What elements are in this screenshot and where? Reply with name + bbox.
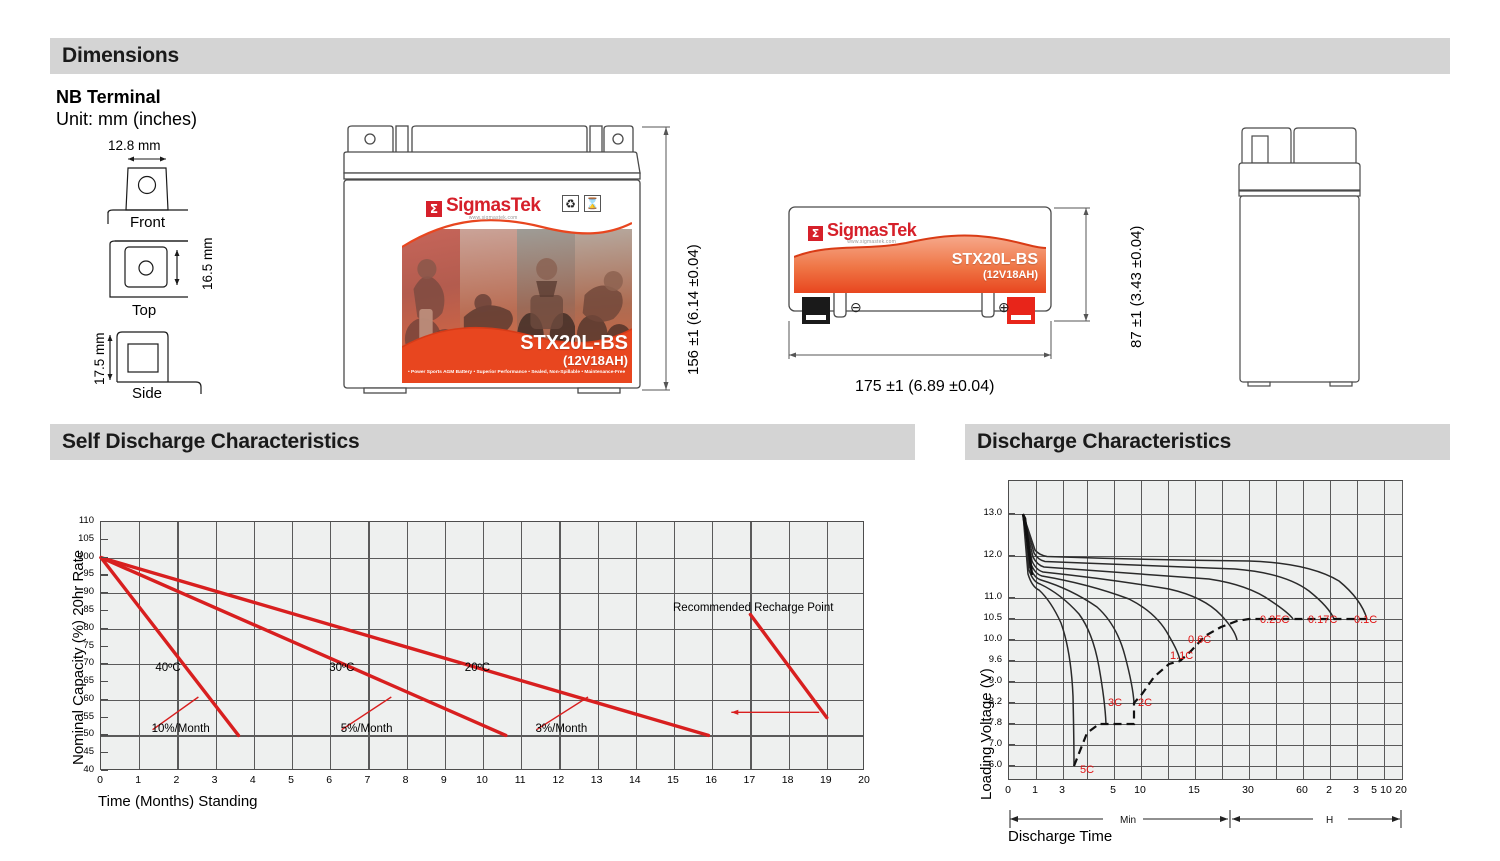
feature-bullets: • Power Sports AGM Battery • Superior Pe… (408, 370, 625, 375)
ytick-mark (101, 574, 108, 575)
cutoff-envelope (1074, 619, 1367, 766)
self-discharge-curves (101, 522, 865, 771)
self-discharge-line-30ºC (101, 558, 506, 736)
side-brand-lockup: Σ SigmasTek www.sigmastek.com (808, 221, 916, 245)
ytick-mark (101, 770, 108, 771)
self-discharge-xtick-1: 1 (126, 774, 150, 786)
discharge-xtick-min-30: 30 (1236, 784, 1260, 796)
discharge-ytick-12: 12.0 (964, 549, 1002, 560)
hourglass-icon: ⌛ (584, 195, 601, 212)
ytick-mark (1009, 639, 1015, 640)
self-discharge-section-header: Self Discharge Characteristics (50, 424, 915, 460)
side-length-dimension-line (786, 317, 1056, 363)
dimensions-section-header: Dimensions (50, 38, 1450, 74)
discharge-curve-3C (1023, 514, 1106, 724)
discharge-xtick-hour-20: 20 (1389, 784, 1413, 796)
self-discharge-xtick-2: 2 (164, 774, 188, 786)
self-discharge-plot (100, 521, 864, 770)
discharge-ytick-10: 10.0 (964, 633, 1002, 644)
battery-side-view: Σ SigmasTek www.sigmastek.com STX20L-BS … (786, 205, 1096, 335)
self-discharge-xtick-3: 3 (203, 774, 227, 786)
ytick-mark (101, 663, 108, 664)
discharge-ytick-7: 7.0 (964, 738, 1002, 749)
discharge-xtick-min-0: 0 (996, 784, 1020, 796)
discharge-ytick-10.5: 10.5 (964, 612, 1002, 623)
self-discharge-xtick-15: 15 (661, 774, 685, 786)
battery-end-view (1234, 126, 1366, 396)
self-discharge-xtick-14: 14 (623, 774, 647, 786)
ytick-mark (1009, 513, 1015, 514)
crate-label-0.1C: 0.1C (1354, 614, 1377, 626)
negative-polarity-icon: ⊖ (850, 299, 862, 316)
recharge-leader-arrow (731, 710, 738, 715)
self-discharge-ytick-50: 50 (60, 728, 94, 739)
self-discharge-ytick-45: 45 (60, 746, 94, 757)
self-discharge-annotation: Recommended Recharge Point (673, 602, 833, 614)
side-length-dim-label: 175 ±1 (6.89 ±0.04) (855, 378, 994, 396)
terminal-drawings: 12.8 mm Front 16.5 mm (60, 132, 310, 412)
self-discharge-ytick-70: 70 (60, 657, 94, 668)
ytick-mark (1009, 765, 1015, 766)
front-height-dim-label: 156 ±1 (6.14 ±0.04) (685, 244, 702, 375)
ytick-mark (101, 592, 108, 593)
model-capacity: (12V18AH) (462, 354, 628, 368)
sigma-logo-icon: Σ (808, 226, 823, 241)
discharge-curve-0.17C (1023, 514, 1334, 619)
ytick-mark (101, 699, 108, 700)
discharge-xtick-min-60: 60 (1290, 784, 1314, 796)
discharge-xtick-min-15: 15 (1182, 784, 1206, 796)
dimensions-title: Dimensions (62, 44, 179, 68)
self-discharge-xtick-13: 13 (585, 774, 609, 786)
self-discharge-ytick-80: 80 (60, 622, 94, 633)
crate-label-2C: 2C (1138, 697, 1152, 709)
unit-label: Unit: mm (inches) (56, 108, 197, 130)
self-discharge-ytick-85: 85 (60, 604, 94, 615)
ytick-mark (101, 610, 108, 611)
ytick-mark (101, 734, 108, 735)
self-discharge-annotation: 30ºC (329, 662, 354, 674)
side-height-dim-label: 87 ±1 (3.43 ±0.04) (1128, 226, 1145, 348)
discharge-ytick-11: 11.0 (964, 591, 1002, 602)
self-discharge-annotation: 3%/Month (536, 723, 588, 735)
battery-side-label: Σ SigmasTek www.sigmastek.com STX20L-BS … (794, 215, 1046, 293)
ytick-mark (1009, 618, 1015, 619)
self-discharge-annotation: 10%/Month (152, 723, 210, 735)
self-discharge-xtick-8: 8 (394, 774, 418, 786)
self-discharge-xtick-4: 4 (241, 774, 265, 786)
positive-polarity-icon: ⊕ (998, 299, 1010, 316)
self-discharge-ytick-60: 60 (60, 693, 94, 704)
side-view-label: Side (132, 385, 162, 402)
discharge-ytick-9: 9.0 (964, 675, 1002, 686)
discharge-xtick-min-5: 5 (1101, 784, 1125, 796)
self-discharge-xtick-10: 10 (470, 774, 494, 786)
self-discharge-title: Self Discharge Characteristics (62, 430, 359, 454)
self-discharge-xtick-11: 11 (508, 774, 532, 786)
min-span-label: Min (1120, 815, 1136, 826)
self-discharge-ytick-65: 65 (60, 675, 94, 686)
crate-label-1.1C: 1.1C (1170, 650, 1193, 662)
nb-terminal-heading-group: NB Terminal Unit: mm (inches) (56, 86, 197, 130)
self-discharge-xtick-16: 16 (699, 774, 723, 786)
self-discharge-ytick-75: 75 (60, 640, 94, 651)
side-height-dimension-line (1048, 205, 1094, 335)
self-discharge-annotation: 5%/Month (341, 723, 393, 735)
self-discharge-xtick-6: 6 (317, 774, 341, 786)
self-discharge-xtick-9: 9 (432, 774, 456, 786)
self-discharge-annotation: 40ºC (155, 662, 180, 674)
discharge-curve-0.1C (1023, 514, 1367, 619)
ytick-mark (101, 539, 108, 540)
discharge-ytick-13: 13.0 (964, 507, 1002, 518)
battery-end-outline (1234, 126, 1366, 396)
discharge-curve-2C (1023, 514, 1134, 703)
ytick-mark (1009, 660, 1015, 661)
discharge-ylabel: Loading Voltage (V) (978, 668, 995, 800)
discharge-curve-0.6C (1023, 514, 1237, 640)
model-capacity: (12V18AH) (904, 269, 1038, 281)
recharge-point-line (750, 615, 826, 718)
self-discharge-annotation: 20ºC (465, 662, 490, 674)
ytick-mark (101, 752, 108, 753)
discharge-plot (1008, 480, 1403, 780)
ytick-mark (101, 628, 108, 629)
discharge-ytick-8.2: 8.2 (964, 696, 1002, 707)
crate-label-3C: 3C (1108, 697, 1122, 709)
sigma-logo-icon: Σ (426, 201, 442, 217)
side-height-dim: 17.5 mm (92, 332, 107, 385)
model-name: STX20L-BS (904, 251, 1038, 268)
battery-front-view: Σ SigmasTek www.sigmastek.com ♻ ⌛ STX20L… (338, 125, 650, 397)
crate-label-0.6C: 0.6C (1188, 634, 1211, 646)
discharge-section-header: Discharge Characteristics (965, 424, 1450, 460)
self-discharge-ytick-90: 90 (60, 586, 94, 597)
ytick-mark (101, 557, 108, 558)
self-discharge-line-40ºC (101, 558, 239, 736)
discharge-xtick-min-10: 10 (1128, 784, 1152, 796)
self-discharge-xtick-0: 0 (88, 774, 112, 786)
ytick-mark (1009, 702, 1015, 703)
self-discharge-xtick-18: 18 (776, 774, 800, 786)
hour-span-label: H (1326, 815, 1333, 826)
self-discharge-line-20ºC (101, 558, 708, 736)
model-name: STX20L-BS (462, 333, 628, 354)
self-discharge-ytick-110: 110 (60, 515, 94, 526)
ytick-mark (1009, 555, 1015, 556)
ytick-mark (101, 681, 108, 682)
self-discharge-ytick-105: 105 (60, 533, 94, 544)
crate-label-0.25C: 0.25C (1260, 614, 1289, 626)
self-discharge-xtick-17: 17 (737, 774, 761, 786)
self-discharge-ytick-100: 100 (60, 551, 94, 562)
brand-name: SigmasTek (827, 221, 916, 239)
ytick-mark (1009, 681, 1015, 682)
ytick-mark (101, 717, 108, 718)
ytick-mark (1009, 723, 1015, 724)
discharge-ytick-6: 6.0 (964, 759, 1002, 770)
discharge-xtick-min-1: 1 (1023, 784, 1047, 796)
discharge-curves (1009, 481, 1404, 781)
discharge-xtick-min-3: 3 (1050, 784, 1074, 796)
brand-lockup: Σ SigmasTek www.sigmastek.com (426, 196, 540, 221)
self-discharge-xtick-7: 7 (355, 774, 379, 786)
discharge-ytick-9.6: 9.6 (964, 654, 1002, 665)
recycle-icon: ♻ (562, 195, 579, 212)
self-discharge-ytick-55: 55 (60, 711, 94, 722)
self-discharge-xtick-20: 20 (852, 774, 876, 786)
self-discharge-ytick-95: 95 (60, 568, 94, 579)
self-discharge-xtick-12: 12 (546, 774, 570, 786)
nb-terminal-label: NB Terminal (56, 86, 197, 108)
discharge-ytick-7.8: 7.8 (964, 717, 1002, 728)
discharge-time-span-indicator: Min H (1008, 806, 1408, 832)
discharge-xtick-hour-2: 2 (1317, 784, 1341, 796)
self-discharge-xtick-19: 19 (814, 774, 838, 786)
ytick-mark (101, 646, 108, 647)
ytick-mark (101, 521, 108, 522)
battery-front-label: Σ SigmasTek www.sigmastek.com ♻ ⌛ STX20L… (402, 193, 632, 383)
front-height-dimension-line (634, 125, 674, 397)
self-discharge-xtick-5: 5 (279, 774, 303, 786)
self-discharge-xlabel: Time (Months) Standing (98, 793, 258, 810)
crate-label-5C: 5C (1080, 764, 1094, 776)
ytick-mark (1009, 744, 1015, 745)
crate-label-0.17C: 0.17C (1308, 614, 1337, 626)
discharge-title: Discharge Characteristics (977, 430, 1231, 454)
ytick-mark (1009, 597, 1015, 598)
brand-name: SigmasTek (446, 196, 540, 215)
